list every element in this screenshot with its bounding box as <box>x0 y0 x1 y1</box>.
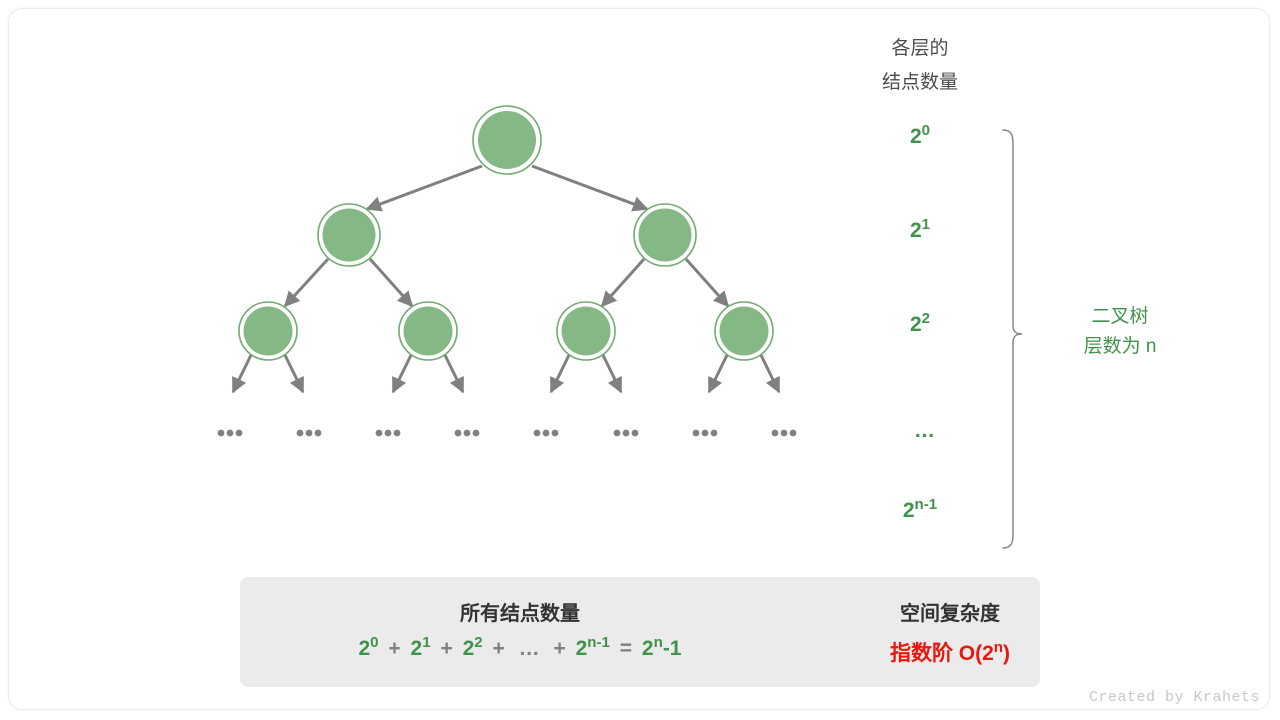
summary-right: 空间复杂度 指数阶 O(2n) <box>860 577 1040 687</box>
term-last-exp: n-1 <box>587 634 610 651</box>
plus-0: + <box>384 637 404 660</box>
level-count-2: 22 <box>860 313 980 337</box>
summary-box: 所有结点数量 20 + 21 + 22 + … + 2n-1 = 2n-1 空间… <box>240 577 1040 687</box>
total-nodes-formula: 20 + 21 + 22 + … + 2n-1 = 2n-1 <box>240 637 800 661</box>
level-count-last-base: 2 <box>903 499 915 522</box>
tree-nodes <box>239 106 773 360</box>
term-last-base: 2 <box>576 637 588 660</box>
term-1-base: 2 <box>411 637 423 660</box>
complexity-suffix: ) <box>1003 642 1010 665</box>
diagram-canvas: 各层的 结点数量 20 21 22 … 2n-1 二叉树 层数为 n 所有结点数… <box>0 0 1280 720</box>
column-header: 各层的 结点数量 <box>845 32 995 100</box>
level-span-brace <box>1003 130 1022 548</box>
brace-label-line1: 二叉树 <box>1030 302 1210 332</box>
tree-node <box>239 302 297 360</box>
tree-node <box>318 204 380 266</box>
tree-node <box>634 204 696 266</box>
result-base: 2 <box>642 637 654 660</box>
formula-ellipsis: … <box>515 637 544 660</box>
result-suffix: -1 <box>663 637 682 660</box>
term-0-exp: 0 <box>370 634 378 651</box>
result-exp: n <box>654 634 663 651</box>
level-count-last: 2n-1 <box>860 499 980 523</box>
level-count-0-base: 2 <box>910 125 922 148</box>
plus-1: + <box>436 637 456 660</box>
term-2-base: 2 <box>463 637 475 660</box>
column-header-line1: 各层的 <box>845 32 995 66</box>
watermark: Created by Krahets <box>1089 689 1260 706</box>
term-1-exp: 1 <box>422 634 430 651</box>
level-count-last-exp: n-1 <box>915 496 938 513</box>
tree-ellipsis-row <box>218 430 797 437</box>
term-0-base: 2 <box>358 637 370 660</box>
tree-node <box>399 302 457 360</box>
plus-3: + <box>549 637 569 660</box>
level-count-0: 20 <box>860 125 980 149</box>
level-count-ellipsis: … <box>865 419 985 443</box>
complexity-exp: n <box>994 639 1003 656</box>
level-count-2-exp: 2 <box>922 310 930 327</box>
equals-sign: = <box>616 637 636 660</box>
level-count-1-base: 2 <box>910 219 922 242</box>
complexity-prefix: 指数阶 O(2 <box>890 642 994 665</box>
term-2-exp: 2 <box>474 634 482 651</box>
column-header-line2: 结点数量 <box>845 66 995 100</box>
level-count-1-exp: 1 <box>922 216 930 233</box>
level-count-0-exp: 0 <box>922 122 930 139</box>
space-complexity-title: 空间复杂度 <box>860 597 1040 626</box>
space-complexity-value: 指数阶 O(2n) <box>860 637 1040 667</box>
brace-label: 二叉树 层数为 n <box>1030 302 1210 362</box>
tree-node <box>473 106 541 174</box>
tree-edges <box>233 166 779 392</box>
plus-2: + <box>489 637 509 660</box>
total-nodes-title: 所有结点数量 <box>240 597 800 626</box>
level-count-1: 21 <box>860 219 980 243</box>
level-count-2-base: 2 <box>910 313 922 336</box>
summary-left: 所有结点数量 20 + 21 + 22 + … + 2n-1 = 2n-1 <box>240 577 800 687</box>
tree-node <box>715 302 773 360</box>
brace-label-line2: 层数为 n <box>1030 332 1210 362</box>
tree-node <box>557 302 615 360</box>
